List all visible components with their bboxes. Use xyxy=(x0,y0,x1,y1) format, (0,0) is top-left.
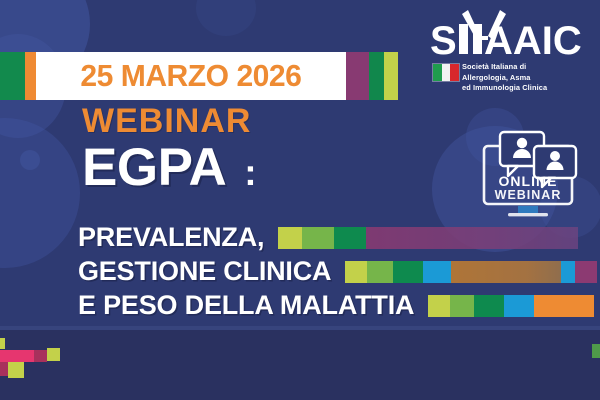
color-bar-segment xyxy=(423,261,451,283)
subtitle-line-1: PREVALENZA, xyxy=(78,222,578,253)
title-colon: : xyxy=(244,154,256,194)
decorative-square xyxy=(0,338,5,349)
svg-text:S: S xyxy=(430,19,457,63)
bottom-band xyxy=(0,330,600,400)
color-bar-segment xyxy=(534,295,594,317)
decorative-square xyxy=(8,362,24,378)
banner-block-green-2 xyxy=(369,52,384,100)
decorative-square xyxy=(34,350,47,362)
headline-block: WEBINAR EGPA : xyxy=(82,104,257,194)
webinar-label: WEBINAR xyxy=(470,189,586,203)
online-webinar-label: ONLINE WEBINAR xyxy=(470,174,586,203)
color-bar-segment xyxy=(561,261,575,283)
decorative-square xyxy=(0,350,34,362)
event-date: 25 MARZO 2026 xyxy=(80,58,301,94)
title-row: EGPA : xyxy=(82,141,257,194)
banner-date-plate: 25 MARZO 2026 xyxy=(36,52,346,100)
color-bar-segment xyxy=(575,261,597,283)
subtitle-line-2: GESTIONE CLINICA xyxy=(78,256,597,287)
color-bar-segment xyxy=(451,261,561,283)
date-banner: 25 MARZO 2026 xyxy=(0,52,398,100)
background-blob-icon xyxy=(0,118,80,268)
color-bar-row-1 xyxy=(278,227,578,249)
banner-block-green xyxy=(0,52,25,100)
subtitle-text: E PESO DELLA MALATTIA xyxy=(78,290,414,321)
banner-block-lime xyxy=(384,52,398,100)
background-blob-icon xyxy=(196,0,256,36)
banner-block-purple xyxy=(346,52,369,100)
color-bar-segment xyxy=(278,227,302,249)
subtitle-text: PREVALENZA, xyxy=(78,222,264,253)
color-bar-segment xyxy=(428,295,450,317)
color-bar-segment xyxy=(334,227,366,249)
color-bar-segment xyxy=(393,261,423,283)
color-bar-segment xyxy=(450,295,474,317)
logo-subtitle-line: Allergologia, Asma xyxy=(462,73,596,84)
color-bar-segment xyxy=(367,261,393,283)
color-bar-segment xyxy=(366,227,578,249)
logo-subtitle-line: Società Italiana di xyxy=(462,62,596,73)
siaaic-wordmark-icon: S AAIC xyxy=(428,6,596,66)
banner-block-orange xyxy=(25,52,36,100)
color-bar-segment xyxy=(345,261,367,283)
background-blob-icon xyxy=(20,150,40,170)
logo-subtitle-line: ed Immunologia Clinica xyxy=(462,83,596,94)
color-bar-segment xyxy=(504,295,534,317)
decorative-square xyxy=(0,362,8,376)
color-bar-segment xyxy=(474,295,504,317)
kicker-webinar: WEBINAR xyxy=(82,104,257,138)
decorative-square xyxy=(592,344,600,358)
svg-text:AAIC: AAIC xyxy=(484,19,582,63)
online-label: ONLINE xyxy=(470,174,586,189)
color-bar-row-3 xyxy=(428,295,594,317)
online-webinar-badge: ONLINE WEBINAR xyxy=(470,128,586,224)
italian-flag-icon xyxy=(432,63,460,82)
subtitle-line-3: E PESO DELLA MALATTIA xyxy=(78,290,594,321)
decorative-square xyxy=(47,348,60,361)
subtitle-text: GESTIONE CLINICA xyxy=(78,256,331,287)
logo-subtitle: Società Italiana di Allergologia, Asma e… xyxy=(462,62,596,94)
color-bar-row-2 xyxy=(345,261,597,283)
webinar-poster: 25 MARZO 2026 WEBINAR EGPA : PREVALENZA,… xyxy=(0,0,600,400)
color-bar-segment xyxy=(302,227,334,249)
siaaic-logo: S AAIC SIAAIC Società Italiana di Allerg… xyxy=(428,6,596,102)
page-title: EGPA xyxy=(82,141,226,194)
